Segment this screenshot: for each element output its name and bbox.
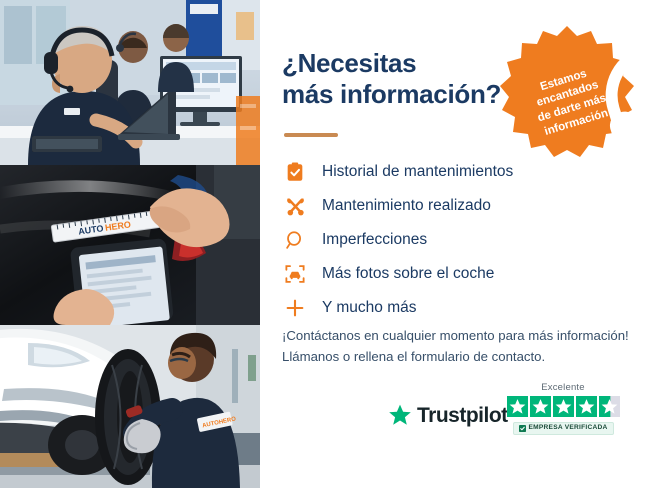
plus-icon: [282, 295, 308, 321]
feature-label: Mantenimiento realizado: [322, 198, 491, 214]
star-filled-icon: [576, 396, 597, 417]
verified-business-label: EMPRESA VERIFICADA: [529, 425, 608, 432]
star-half-icon: [599, 396, 620, 417]
clipboard-check-icon: [282, 159, 308, 185]
contact-line2: Llámanos o rellena el formulario de cont…: [282, 346, 642, 367]
call-center-agents-photo: [0, 0, 260, 165]
car-inspection-ruler-photo: AUTO HERO: [0, 165, 260, 325]
call-center-agents-illustration: [0, 0, 260, 165]
feature-item-mas: Y mucho más: [282, 292, 612, 324]
star-filled-icon: [507, 396, 528, 417]
trustpilot-widget[interactable]: Trustpilot Excelente: [388, 383, 648, 449]
car-focus-frame-icon: [282, 261, 308, 287]
need-more-info-banner: AUTO HERO: [0, 0, 650, 488]
photo-column: AUTO HERO: [0, 0, 260, 488]
trustpilot-rating-label: Excelente: [502, 383, 624, 393]
contact-paragraph: ¡Contáctanos en cualquier momento para m…: [282, 325, 642, 368]
trustpilot-rating-block: Excelente: [502, 383, 624, 435]
feature-label: Y mucho más: [322, 300, 416, 316]
mechanic-wheel-illustration: AUTOHERO: [0, 325, 260, 488]
title-divider: [284, 133, 338, 137]
trustpilot-wordmark: Trustpilot: [417, 405, 508, 426]
check-square-icon: [519, 425, 526, 432]
star-filled-icon: [553, 396, 574, 417]
feature-label: Historial de mantenimientos: [322, 164, 513, 180]
magnifier-icon: [282, 227, 308, 253]
promo-badge: Estamos encantados de darte más informac…: [499, 24, 635, 160]
feature-item-imperfecciones: Imperfecciones: [282, 224, 612, 256]
mechanic-wheel-inspection-photo: AUTOHERO: [0, 325, 260, 488]
feature-item-mantenimiento: Mantenimiento realizado: [282, 190, 612, 222]
feature-label: Imperfecciones: [322, 232, 427, 248]
tools-cross-icon: [282, 193, 308, 219]
verified-business-badge: EMPRESA VERIFICADA: [513, 422, 614, 435]
feature-list: Historial de mantenimientos M: [282, 156, 612, 326]
feature-label: Más fotos sobre el coche: [322, 266, 494, 282]
trustpilot-stars: [502, 396, 624, 417]
contact-line1: ¡Contáctanos en cualquier momento para m…: [282, 325, 642, 346]
content-panel: ¿Necesitas más información? Estamos enca…: [260, 0, 650, 488]
feature-item-historial: Historial de mantenimientos: [282, 156, 612, 188]
car-inspection-illustration: AUTO HERO: [0, 165, 260, 325]
trustpilot-logo[interactable]: Trustpilot: [388, 403, 508, 427]
trustpilot-star-icon: [388, 403, 412, 427]
star-filled-icon: [530, 396, 551, 417]
feature-item-fotos: Más fotos sobre el coche: [282, 258, 612, 290]
